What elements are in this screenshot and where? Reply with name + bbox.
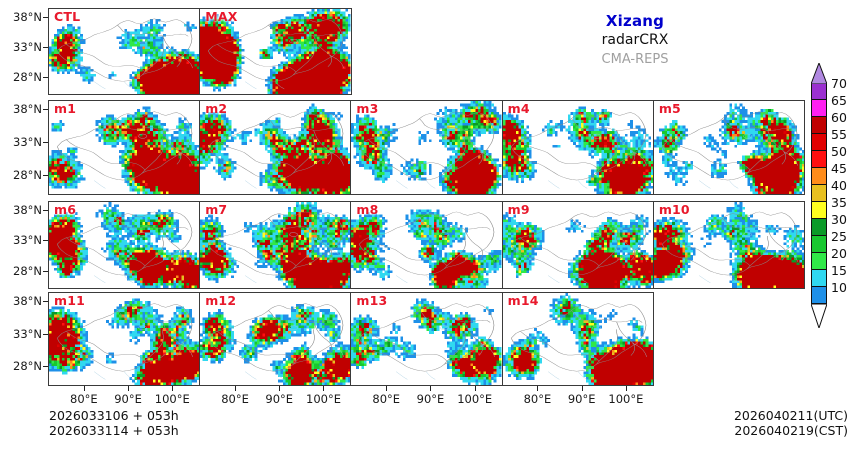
panel-label: m8 — [356, 203, 378, 217]
y-axis-tick-label: 38°N — [0, 10, 42, 24]
x-axis-tick — [279, 386, 280, 391]
panel-m8[interactable]: m8 — [350, 201, 503, 289]
panel-m6[interactable]: m6 — [48, 201, 201, 289]
panel-m13[interactable]: m13 — [350, 292, 503, 386]
init-time-line-1: 2026033106 + 053h — [49, 408, 179, 423]
x-axis-tick-label: 80°E — [212, 392, 258, 406]
panel-ctl[interactable]: CTL — [48, 8, 201, 95]
footer-right: 2026040211(UTC) 2026040219(CST) — [734, 408, 848, 438]
panel-label: MAX — [205, 10, 237, 24]
x-axis-tick-label: 90°E — [256, 392, 302, 406]
colorbar-cap-top-outline — [811, 63, 827, 84]
panel-m10[interactable]: m10 — [653, 201, 806, 289]
x-axis-tick-label: 90°E — [559, 392, 605, 406]
y-axis-tick-label: 38°N — [0, 203, 42, 217]
x-axis-tick-label: 90°E — [105, 392, 151, 406]
y-axis-tick-label: 28°N — [0, 70, 42, 84]
panel-label: m14 — [508, 294, 539, 308]
panel-label: m12 — [205, 294, 236, 308]
panel-m11[interactable]: m11 — [48, 292, 201, 386]
colorbar-tick-label: 55 — [831, 129, 847, 141]
panel-m12[interactable]: m12 — [199, 292, 352, 386]
panel-m4[interactable]: m4 — [502, 100, 655, 195]
colorbar-tick-label: 45 — [831, 163, 847, 175]
panel-m5[interactable]: m5 — [653, 100, 806, 195]
panel-m2[interactable]: m2 — [199, 100, 352, 195]
x-axis-tick — [537, 386, 538, 391]
x-axis-tick — [475, 386, 476, 391]
colorbar-band — [811, 134, 827, 151]
colorbar-band — [811, 236, 827, 253]
colorbar-tick-label: 40 — [831, 180, 847, 192]
colorbar-band — [811, 287, 827, 304]
panel-label: m7 — [205, 203, 227, 217]
x-axis-tick — [172, 386, 173, 391]
init-time-line-2: 2026033114 + 053h — [49, 423, 179, 438]
valid-time-cst: 2026040219(CST) — [734, 423, 848, 438]
panel-label: m10 — [659, 203, 690, 217]
panel-m1[interactable]: m1 — [48, 100, 201, 195]
panel-row-3: m6m7m8m9m10 — [48, 201, 804, 289]
region-title: Xizang — [525, 12, 745, 31]
panel-row-1: CTLMAX — [48, 8, 350, 95]
y-axis-tick-label: 28°N — [0, 168, 42, 182]
x-axis-tick-label: 100°E — [452, 392, 498, 406]
y-axis-tick-label: 33°N — [0, 327, 42, 341]
colorbar-band — [811, 168, 827, 185]
colorbar-band — [811, 253, 827, 270]
colorbar-tick-label: 15 — [831, 265, 847, 277]
colorbar-cap-bottom-outline — [811, 304, 827, 328]
colorbar-tick-label: 65 — [831, 95, 847, 107]
x-axis-tick-label: 100°E — [300, 392, 346, 406]
colorbar-band — [811, 202, 827, 219]
x-axis-tick — [582, 386, 583, 391]
y-axis-tick-label: 33°N — [0, 135, 42, 149]
y-axis-tick-label: 38°N — [0, 294, 42, 308]
panel-max[interactable]: MAX — [199, 8, 352, 95]
colorbar-tick-label: 25 — [831, 231, 847, 243]
colorbar-band — [811, 100, 827, 117]
colorbar-band — [811, 219, 827, 236]
x-axis-tick-label: 100°E — [149, 392, 195, 406]
figure-title-block: Xizang radarCRX CMA-REPS — [525, 12, 745, 69]
colorbar-tick-label: 60 — [831, 112, 847, 124]
colorbar-tick-label: 20 — [831, 248, 847, 260]
x-axis-tick — [128, 386, 129, 391]
colorbar-tick-label: 50 — [831, 146, 847, 158]
colorbar-band — [811, 117, 827, 134]
colorbar-tick-label: 70 — [831, 78, 847, 90]
x-axis-tick-label: 80°E — [363, 392, 409, 406]
x-axis-tick-label: 90°E — [407, 392, 453, 406]
colorbar-band — [811, 185, 827, 202]
panel-label: m3 — [356, 102, 378, 116]
panel-label: m6 — [54, 203, 76, 217]
footer-left: 2026033106 + 053h 2026033114 + 053h — [49, 408, 179, 438]
colorbar-band — [811, 270, 827, 287]
panel-label: m9 — [508, 203, 530, 217]
colorbar-tick-label: 30 — [831, 214, 847, 226]
panel-label: m5 — [659, 102, 681, 116]
x-axis-tick — [386, 386, 387, 391]
x-axis-tick — [84, 386, 85, 391]
colorbar-tick-label: 35 — [831, 197, 847, 209]
panel-row-4: m11m12m13m14 — [48, 292, 653, 386]
model-title: CMA-REPS — [525, 50, 745, 69]
x-axis-tick — [626, 386, 627, 391]
x-axis-tick — [430, 386, 431, 391]
panel-m7[interactable]: m7 — [199, 201, 352, 289]
x-axis-tick-label: 80°E — [61, 392, 107, 406]
product-title: radarCRX — [525, 31, 745, 50]
y-axis-tick-label: 33°N — [0, 233, 42, 247]
x-axis-tick — [235, 386, 236, 391]
x-axis-tick-label: 80°E — [514, 392, 560, 406]
colorbar-band — [811, 151, 827, 168]
panel-label: m1 — [54, 102, 76, 116]
panel-label: m11 — [54, 294, 85, 308]
panel-label: m13 — [356, 294, 387, 308]
colorbar-tick-label: 10 — [831, 282, 847, 294]
x-axis-tick-label: 100°E — [603, 392, 649, 406]
panel-m14[interactable]: m14 — [502, 292, 655, 386]
valid-time-utc: 2026040211(UTC) — [734, 408, 848, 423]
radar-ensemble-figure: Xizang radarCRX CMA-REPS 38°N33°N28°N38°… — [0, 0, 860, 450]
x-axis-tick — [323, 386, 324, 391]
panel-label: m2 — [205, 102, 227, 116]
colorbar-band — [811, 83, 827, 100]
colorbar-bands: 70656055504540353025201510 — [811, 83, 827, 304]
y-axis-tick-label: 33°N — [0, 40, 42, 54]
panel-label: m4 — [508, 102, 530, 116]
y-axis-tick-label: 28°N — [0, 359, 42, 373]
y-axis-tick-label: 28°N — [0, 264, 42, 278]
panel-label: CTL — [54, 10, 80, 24]
panel-row-2: m1m2m3m4m5 — [48, 100, 804, 195]
y-axis-tick-label: 38°N — [0, 102, 42, 116]
panel-m9[interactable]: m9 — [502, 201, 655, 289]
panel-m3[interactable]: m3 — [350, 100, 503, 195]
colorbar: 70656055504540353025201510 — [811, 63, 827, 326]
